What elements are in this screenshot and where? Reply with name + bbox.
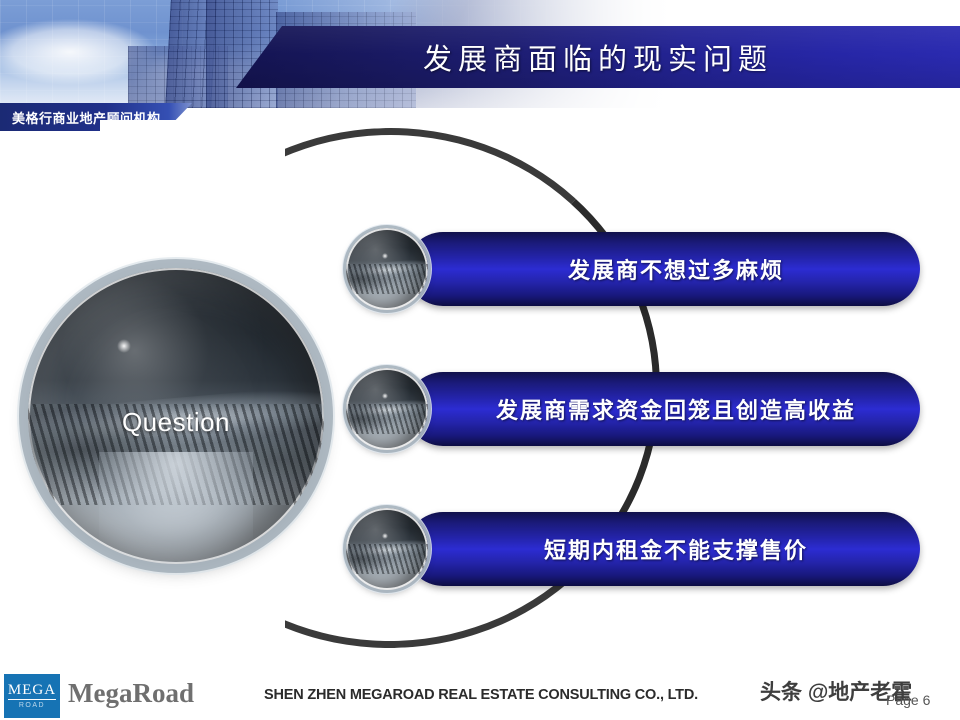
sphere-terrain-texture: [346, 264, 428, 294]
pill-label: 发展商需求资金回笼且创造高收益: [406, 372, 920, 446]
pill-bullet-sphere-icon: [346, 508, 428, 590]
page-title: 发展商面临的现实问题: [236, 26, 960, 88]
sphere-terrain-texture: [346, 544, 428, 574]
sphere-terrain-texture: [346, 404, 428, 434]
diagram-item-2[interactable]: 发展商需求资金回笼且创造高收益: [346, 372, 920, 446]
pill-bullet-sphere-icon: [346, 368, 428, 450]
pill-label: 短期内租金不能支撑售价: [406, 512, 920, 586]
megaroad-logo-mark: MEGA ROAD: [4, 674, 60, 718]
question-sphere-label: Question: [28, 268, 324, 564]
megaroad-wordmark: MegaRoad: [68, 678, 194, 709]
logo-mark-bottom-text: ROAD: [19, 702, 45, 709]
page-number: Page 6: [886, 692, 930, 708]
pill-label: 发展商不想过多麻烦: [406, 232, 920, 306]
diagram-item-3[interactable]: 短期内租金不能支撑售价: [346, 512, 920, 586]
diagram-item-1[interactable]: 发展商不想过多麻烦: [346, 232, 920, 306]
footer-company-name: SHEN ZHEN MEGAROAD REAL ESTATE CONSULTIN…: [264, 687, 698, 703]
logo-mark-top-text: MEGA: [8, 683, 56, 701]
pill-bullet-sphere-icon: [346, 228, 428, 310]
